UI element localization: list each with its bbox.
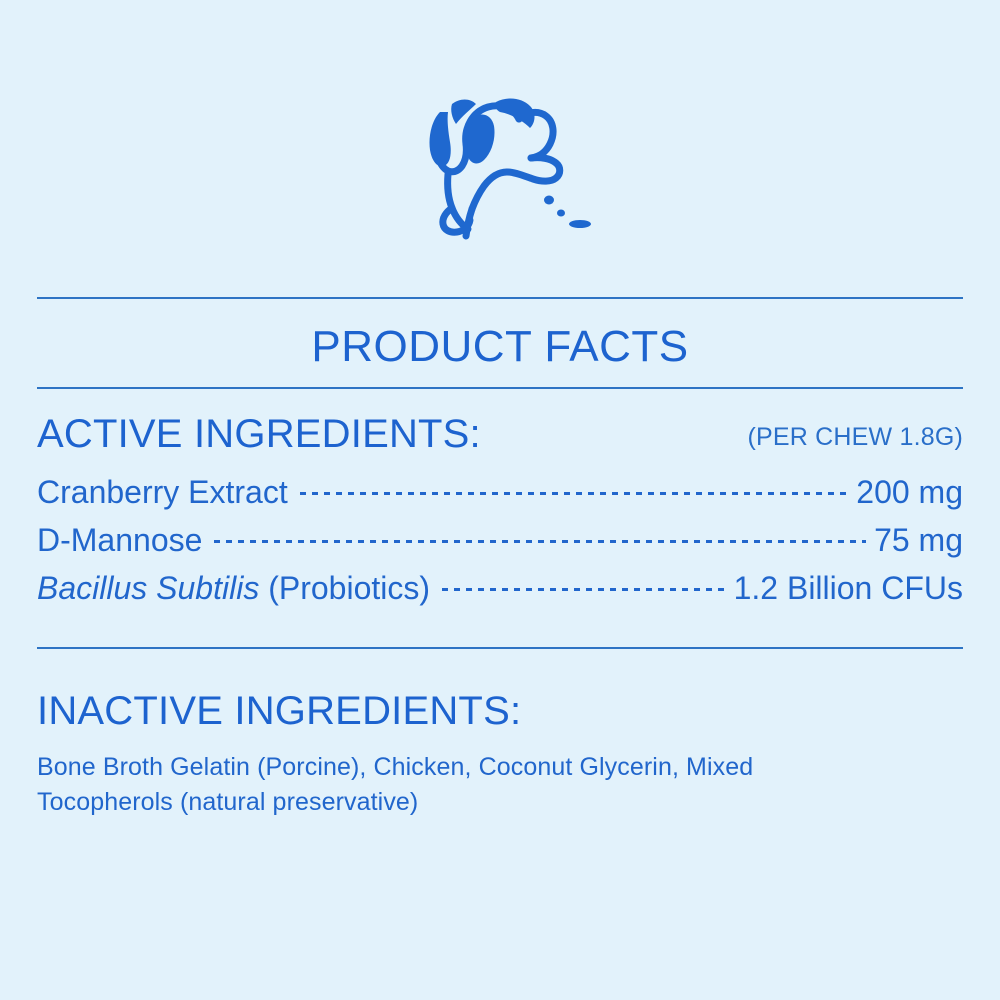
ingredient-amount: 1.2 Billion CFUs (734, 566, 963, 610)
ingredient-row: D-Mannose 75 mg (37, 518, 963, 566)
scent-dots-icon (544, 195, 591, 228)
ingredient-name: D-Mannose (37, 518, 202, 562)
ingredient-name-plain: Cranberry Extract (37, 474, 288, 510)
ingredient-name: Cranberry Extract (37, 470, 288, 514)
divider-bottom (37, 647, 963, 649)
sniffing-dog-icon (400, 82, 600, 250)
ingredient-amount: 200 mg (856, 470, 963, 514)
page-title: PRODUCT FACTS (0, 321, 1000, 373)
leader-dots (300, 491, 849, 495)
inactive-ingredients-heading: INACTIVE INGREDIENTS: (37, 688, 963, 734)
leader-dots (442, 587, 726, 591)
leader-dots (214, 539, 866, 543)
inactive-ingredients-body: Bone Broth Gelatin (Porcine), Chicken, C… (37, 750, 867, 820)
divider-middle (37, 387, 963, 389)
ingredient-amount: 75 mg (874, 518, 963, 562)
brand-logo (0, 78, 1000, 253)
divider-top (37, 297, 963, 299)
active-ingredients-list: Cranberry Extract 200 mg D-Mannose 75 mg… (37, 470, 963, 614)
ingredient-row: Cranberry Extract 200 mg (37, 470, 963, 518)
ingredient-name-italic: Bacillus Subtilis (37, 570, 259, 606)
serving-size-note: (PER CHEW 1.8G) (747, 423, 963, 452)
ingredient-name-plain: D-Mannose (37, 522, 202, 558)
active-ingredients-heading: ACTIVE INGREDIENTS: (37, 411, 481, 457)
ingredient-name: Bacillus Subtilis (Probiotics) (37, 566, 430, 610)
product-facts-label: PRODUCT FACTS ACTIVE INGREDIENTS: (PER C… (0, 0, 1000, 1000)
active-ingredients-header: ACTIVE INGREDIENTS: (PER CHEW 1.8G) (37, 411, 963, 459)
ingredient-name-suffix: (Probiotics) (259, 570, 430, 606)
ingredient-row: Bacillus Subtilis (Probiotics) 1.2 Billi… (37, 566, 963, 614)
